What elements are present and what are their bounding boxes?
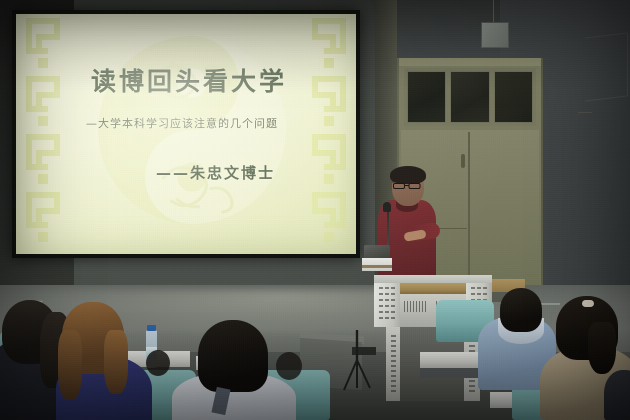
lecture-hall-photo: 读博回头看大学 —大学本科学习应该注意的几个问题 ——朱忠文博士 — [0, 0, 630, 420]
podium-laptop-lid[interactable] — [364, 245, 390, 258]
lectern-top-cap — [374, 275, 492, 283]
projected-slide: 读博回头看大学 —大学本科学习应该注意的几个问题 ——朱忠文博士 — [16, 14, 356, 254]
hair-tie-icon — [582, 300, 594, 307]
presenter-hair — [390, 166, 426, 184]
water-bottle-cap — [147, 325, 156, 331]
ceiling-box-icon — [481, 22, 509, 48]
transom-window — [404, 68, 536, 126]
window-pane — [494, 71, 533, 123]
projection-screen: 读博回头看大学 —大学本科学习应该注意的几个问题 ——朱忠文博士 — [12, 10, 360, 258]
ceiling-box-wire — [493, 0, 494, 22]
lectern-vent-left — [375, 283, 399, 325]
lectern-vent-lower-left — [387, 331, 400, 397]
door-center-seam — [468, 132, 470, 286]
slide-text-block: 读博回头看大学 —大学本科学习应该注意的几个问题 ——朱忠文博士 — [16, 14, 356, 254]
slide-author: ——朱忠文博士 — [156, 166, 336, 181]
window-pane — [407, 71, 446, 123]
slide-subtitle: —大学本科学习应该注意的几个问题 — [86, 118, 336, 129]
door-top-frame — [399, 58, 541, 66]
microphone-icon — [383, 202, 391, 212]
lectern-speaker-grille — [404, 301, 426, 312]
podium-laptop-strip — [362, 265, 392, 268]
door-handle-icon[interactable] — [461, 154, 465, 168]
eyeglasses-icon — [393, 183, 421, 189]
door-scuff — [439, 228, 467, 229]
window-pane — [450, 71, 489, 123]
wall-mark-secondary-icon — [578, 112, 592, 113]
slide-title: 读博回头看大学 — [64, 69, 314, 94]
wall-mark-icon — [585, 32, 628, 101]
